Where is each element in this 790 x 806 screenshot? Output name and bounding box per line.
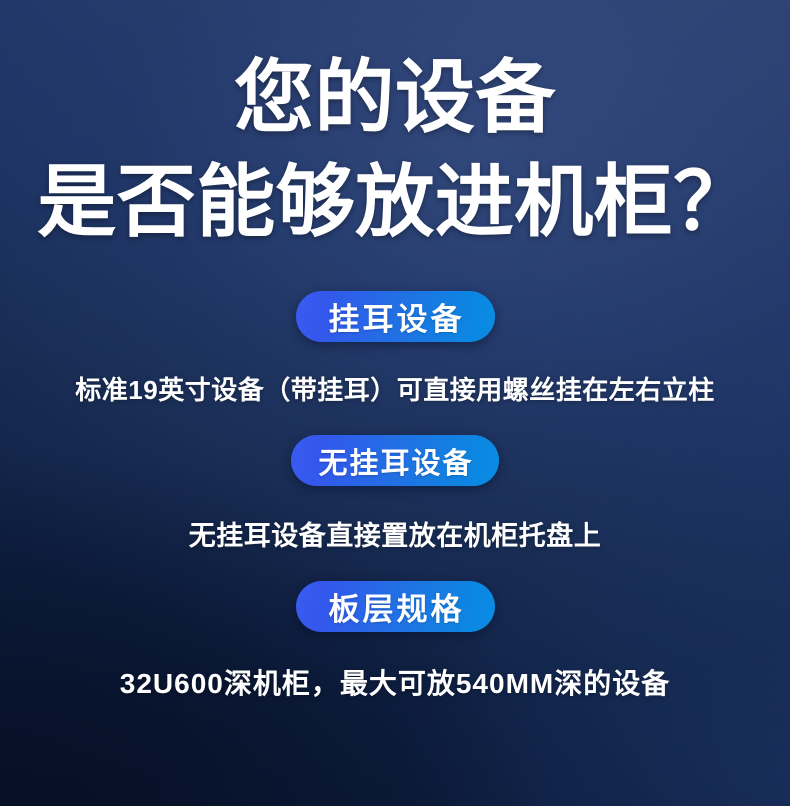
caption-shelf-spec: 32U600深机柜，最大可放540MM深的设备: [120, 662, 670, 702]
promo-banner: 您的设备 是否能够放进机柜？ 挂耳设备 标准19英寸设备（带挂耳）可直接用螺丝挂…: [0, 0, 790, 806]
headline-line-1: 您的设备: [37, 58, 753, 138]
headline-line-2: 是否能够放进机柜？: [37, 162, 753, 241]
badge-shelf-spec[interactable]: 板层规格: [296, 581, 495, 632]
page-title: 您的设备 是否能够放进机柜？: [37, 0, 753, 241]
caption-mounted-ears: 标准19英寸设备（带挂耳）可直接用螺丝挂在左右立柱: [75, 370, 714, 407]
section-shelf-spec: 板层规格 32U600深机柜，最大可放540MM深的设备: [0, 581, 790, 702]
section-no-ears: 无挂耳设备 无挂耳设备直接置放在机柜托盘上: [0, 435, 790, 553]
section-mounted-ears: 挂耳设备 标准19英寸设备（带挂耳）可直接用螺丝挂在左右立柱: [0, 291, 790, 407]
badge-no-ears[interactable]: 无挂耳设备: [291, 435, 498, 486]
banner-content: 您的设备 是否能够放进机柜？ 挂耳设备 标准19英寸设备（带挂耳）可直接用螺丝挂…: [0, 0, 790, 806]
badge-mounted-ears[interactable]: 挂耳设备: [296, 291, 495, 342]
caption-no-ears: 无挂耳设备直接置放在机柜托盘上: [189, 514, 602, 553]
